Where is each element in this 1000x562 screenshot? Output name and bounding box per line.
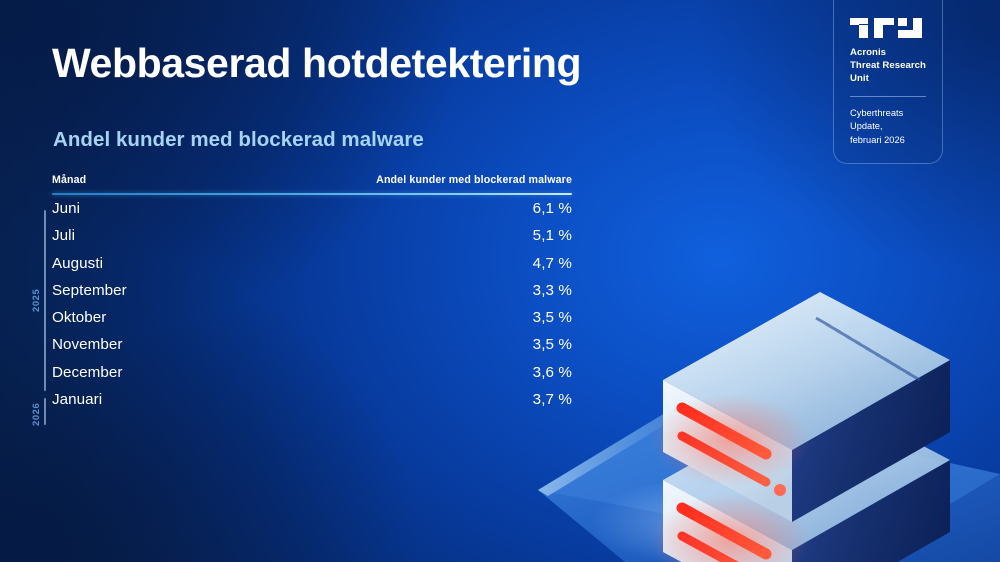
cell-month: December bbox=[52, 359, 122, 386]
data-table: Månad Andel kunder med blockerad malware… bbox=[52, 174, 572, 413]
badge-divider bbox=[850, 96, 926, 97]
cell-value: 6,1 % bbox=[533, 195, 572, 222]
isometric-server-illustration bbox=[530, 222, 1000, 562]
cell-value: 3,6 % bbox=[533, 359, 572, 386]
column-header-month: Månad bbox=[52, 174, 86, 186]
table-body: Juni6,1 %Juli5,1 %Augusti4,7 %September3… bbox=[52, 195, 572, 413]
cell-value: 4,7 % bbox=[533, 250, 572, 277]
badge-organization: Acronis Threat Research Unit bbox=[850, 47, 926, 85]
column-header-value: Andel kunder med blockerad malware bbox=[376, 174, 572, 186]
badge-sub-line-3: februari 2026 bbox=[850, 134, 926, 147]
badge-org-line-1: Acronis bbox=[850, 47, 926, 60]
table-row: Juni6,1 % bbox=[52, 195, 572, 222]
cell-value: 5,1 % bbox=[533, 222, 572, 249]
page-title: Webbaserad hotdetektering bbox=[52, 40, 581, 87]
tru-badge: Acronis Threat Research Unit Cyberthreat… bbox=[833, 0, 943, 164]
page-subtitle: Andel kunder med blockerad malware bbox=[53, 128, 424, 152]
cell-month: Juli bbox=[52, 222, 75, 249]
cell-month: Juni bbox=[52, 195, 80, 222]
cell-value: 3,5 % bbox=[533, 304, 572, 331]
badge-report-info: Cyberthreats Update, februari 2026 bbox=[850, 107, 926, 147]
cell-value: 3,5 % bbox=[533, 331, 572, 358]
cell-value: 3,3 % bbox=[533, 277, 572, 304]
table-row: Januari3,7 % bbox=[52, 386, 572, 413]
table-row: Oktober3,5 % bbox=[52, 304, 572, 331]
cell-month: Januari bbox=[52, 386, 102, 413]
slide-root: Webbaserad hotdetektering Andel kunder m… bbox=[0, 0, 1000, 562]
year-bracket-2025 bbox=[44, 210, 46, 391]
table-row: December3,6 % bbox=[52, 359, 572, 386]
year-bracket-2026 bbox=[44, 398, 46, 425]
tru-logo-icon bbox=[850, 18, 922, 38]
table-row: November3,5 % bbox=[52, 331, 572, 358]
cell-month: Augusti bbox=[52, 250, 103, 277]
badge-sub-line-1: Cyberthreats bbox=[850, 107, 926, 120]
table-row: Juli5,1 % bbox=[52, 222, 572, 249]
badge-org-line-3: Unit bbox=[850, 73, 926, 86]
table-row: Augusti4,7 % bbox=[52, 250, 572, 277]
cell-month: Oktober bbox=[52, 304, 106, 331]
cell-month: November bbox=[52, 331, 122, 358]
cell-value: 3,7 % bbox=[533, 386, 572, 413]
table-header-row: Månad Andel kunder med blockerad malware bbox=[52, 174, 572, 193]
year-label-2026: 2026 bbox=[30, 403, 41, 426]
cell-month: September bbox=[52, 277, 127, 304]
badge-sub-line-2: Update, bbox=[850, 120, 926, 133]
table-row: September3,3 % bbox=[52, 277, 572, 304]
year-label-2025: 2025 bbox=[30, 289, 41, 312]
badge-org-line-2: Threat Research bbox=[850, 60, 926, 73]
